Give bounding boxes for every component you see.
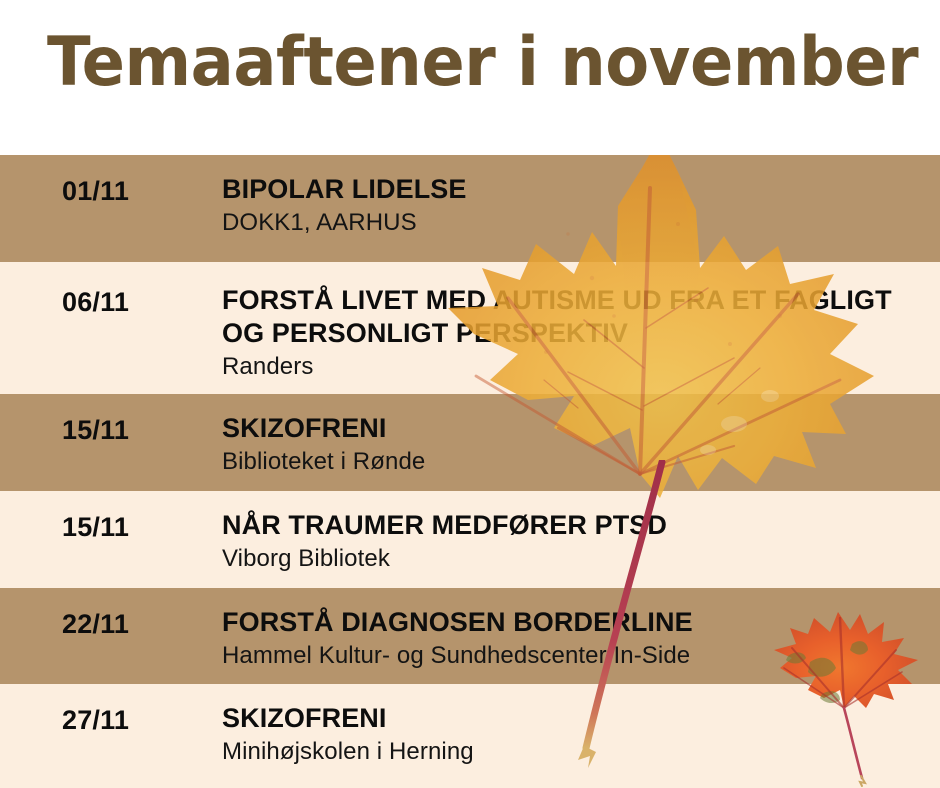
event-body: FORSTÅ DIAGNOSEN BORDERLINEHammel Kultur… [222,606,922,671]
event-body: FORSTÅ LIVET MED AUTISME UD FRA ET FAGLI… [222,284,922,382]
event-location: Hammel Kultur- og Sundhedscenter In-Side [222,641,922,671]
event-location: Biblioteket i Rønde [222,447,922,477]
event-title: SKIZOFRENI [222,412,922,445]
event-date: 06/11 [62,286,129,318]
event-location: Viborg Bibliotek [222,544,922,574]
event-date: 27/11 [62,704,129,736]
poster-canvas: 01/11BIPOLAR LIDELSEDOKK1, AARHUS06/11FO… [0,0,940,788]
schedule-row: 01/11BIPOLAR LIDELSEDOKK1, AARHUS [0,155,940,262]
event-date: 15/11 [62,511,129,543]
event-location: DOKK1, AARHUS [222,208,922,238]
poster-header: Temaaftener i november [0,0,940,155]
page-title: Temaaftener i november [47,26,918,100]
event-title: FORSTÅ LIVET MED AUTISME UD FRA ET FAGLI… [222,284,922,350]
schedule-row: 15/11SKIZOFRENIBiblioteket i Rønde [0,394,940,491]
event-location: Minihøjskolen i Herning [222,737,922,767]
schedule-row: 22/11FORSTÅ DIAGNOSEN BORDERLINEHammel K… [0,588,940,684]
event-date: 22/11 [62,608,129,640]
event-location: Randers [222,352,922,382]
event-title: FORSTÅ DIAGNOSEN BORDERLINE [222,606,922,639]
event-body: NÅR TRAUMER MEDFØRER PTSDViborg Bibliote… [222,509,922,574]
event-title: NÅR TRAUMER MEDFØRER PTSD [222,509,922,542]
event-date: 15/11 [62,414,129,446]
schedule-row: 27/11SKIZOFRENIMinihøjskolen i Herning [0,684,940,788]
schedule-row: 15/11NÅR TRAUMER MEDFØRER PTSDViborg Bib… [0,491,940,588]
event-body: SKIZOFRENIMinihøjskolen i Herning [222,702,922,767]
event-body: SKIZOFRENIBiblioteket i Rønde [222,412,922,477]
event-date: 01/11 [62,175,129,207]
event-title: BIPOLAR LIDELSE [222,173,922,206]
schedule-row: 06/11FORSTÅ LIVET MED AUTISME UD FRA ET … [0,262,940,394]
event-body: BIPOLAR LIDELSEDOKK1, AARHUS [222,173,922,238]
event-title: SKIZOFRENI [222,702,922,735]
